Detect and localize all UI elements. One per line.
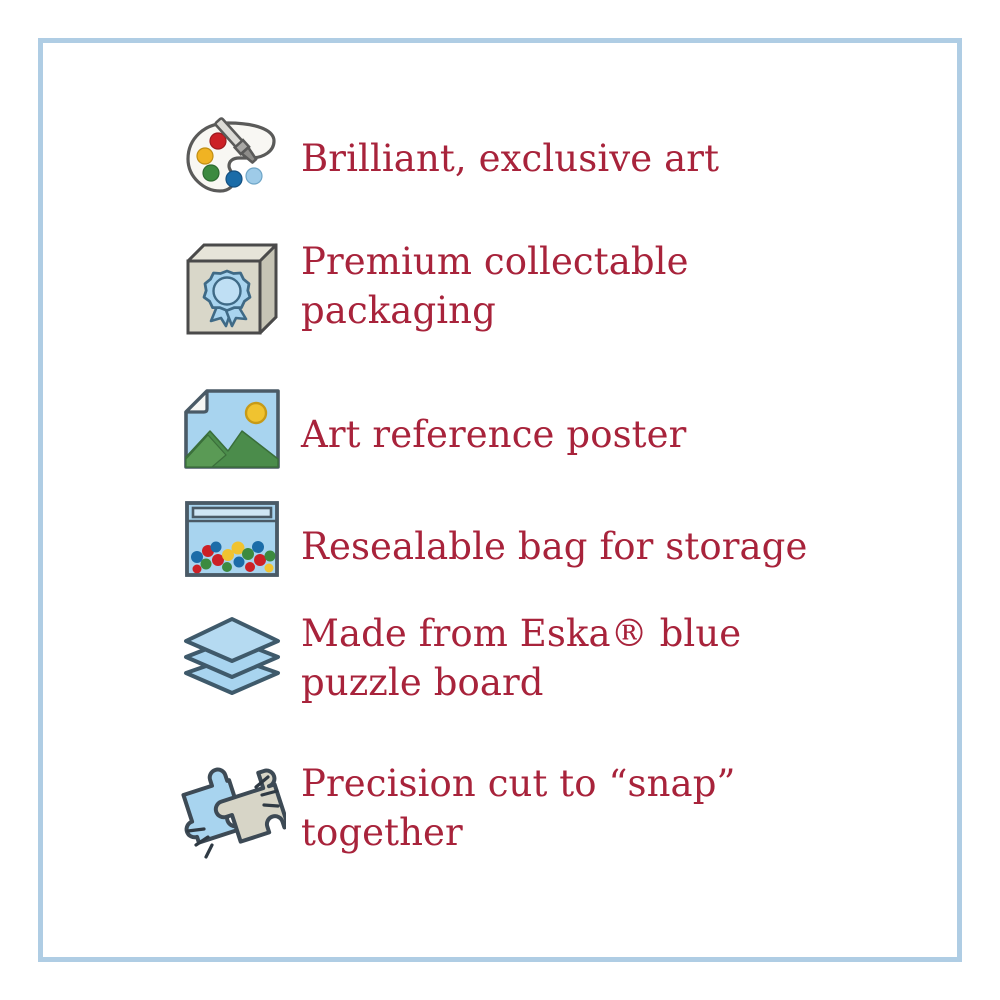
decorative-frame-border: Brilliant, exclusive art [38,38,962,962]
feature-label: Brilliant, exclusive art [301,135,719,184]
award-box-icon [173,233,291,339]
feature-row: Resealable bag for storage [173,493,933,605]
feature-row: Made from Eska® blue puzzle board [173,605,933,755]
feature-label: Art reference poster [301,411,686,460]
resealable-bag-icon [173,493,291,579]
feature-label: Resealable bag for storage [301,523,807,572]
feature-row: Brilliant, exclusive art [173,105,933,233]
feature-list-graphic: Brilliant, exclusive art [0,0,1000,1000]
snap-puzzle-pieces-icon [173,755,291,869]
feature-label-cell: Resealable bag for storage [291,493,807,597]
feature-row: Premium collectable packaging [173,233,933,381]
poster-image-icon [173,381,291,471]
feature-list: Brilliant, exclusive art [173,105,933,875]
feature-row: Precision cut to “snap” together [173,755,933,875]
feature-row: Art reference poster [173,381,933,493]
feature-label-cell: Premium collectable packaging [291,233,689,337]
feature-label: Made from Eska® blue puzzle board [301,610,741,708]
feature-label-cell: Precision cut to “snap” together [291,755,736,859]
feature-label-cell: Brilliant, exclusive art [291,105,719,209]
stacked-board-layers-icon [173,605,291,699]
feature-label: Precision cut to “snap” together [301,760,736,858]
feature-label-cell: Made from Eska® blue puzzle board [291,605,741,709]
feature-label-cell: Art reference poster [291,381,686,485]
paint-palette-icon [173,105,291,207]
feature-label: Premium collectable packaging [301,238,689,336]
